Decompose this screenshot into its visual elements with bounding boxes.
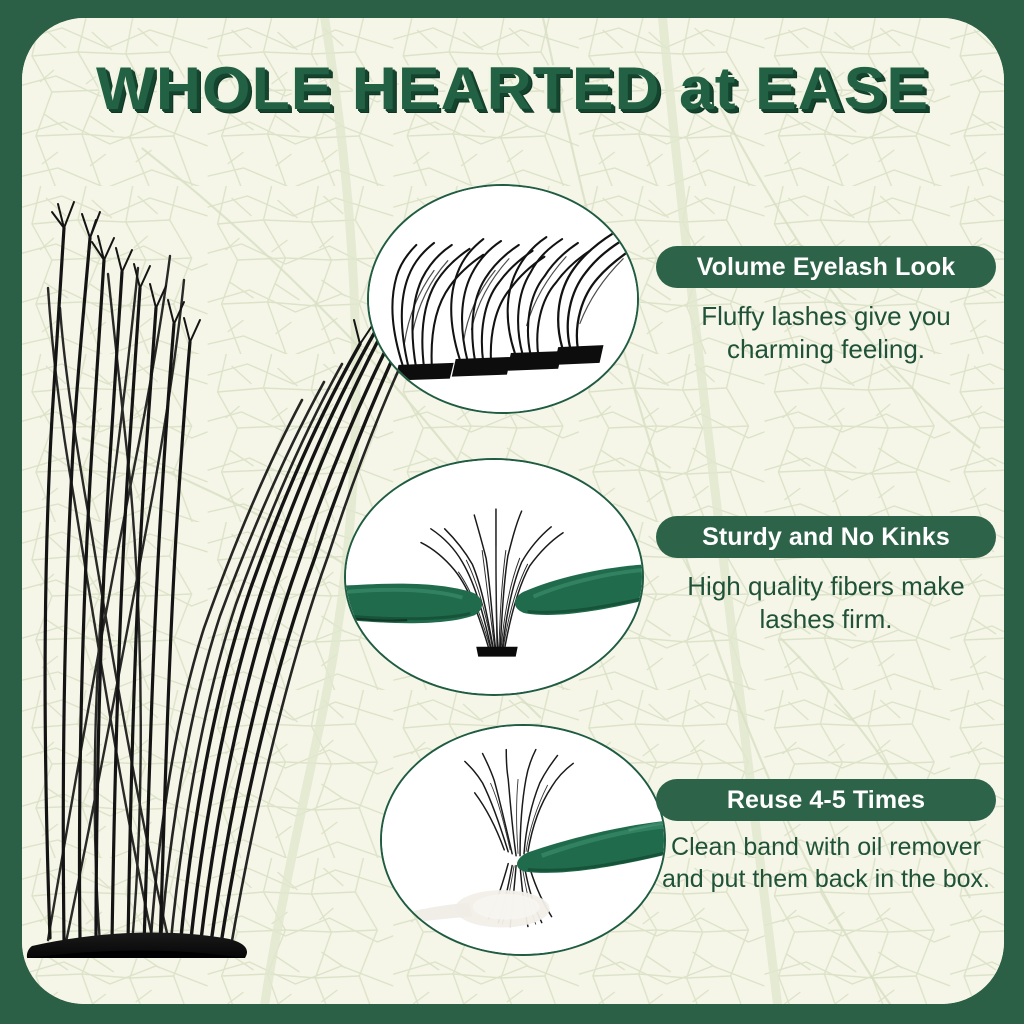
feature-description-2: High quality fibers make lashes firm. [656,570,996,636]
feature-image-volume-eyelash-look [367,184,639,414]
feature-badge-reuse-4-5-times[interactable]: Reuse 4-5 Times [656,779,996,821]
poster-inner-panel: WHOLE HEARTED at EASE [22,18,1004,1004]
page-title: WHOLE HEARTED at EASE [96,54,929,123]
feature-block-2: Sturdy and No Kinks High quality fibers … [656,516,996,636]
feature-block-1: Volume Eyelash Look Fluffy lashes give y… [656,246,996,366]
feature-image-sturdy-no-kinks [344,458,644,696]
feature-image-reuse-4-5-times [380,724,666,956]
product-infographic-poster: WHOLE HEARTED at EASE [0,0,1024,1024]
feature-description-3: Clean band with oil remover and put them… [656,831,996,895]
feature-badge-volume-eyelash-look[interactable]: Volume Eyelash Look [656,246,996,288]
feature-block-3: Reuse 4-5 Times Clean band with oil remo… [656,779,996,895]
poster-title-container: WHOLE HEARTED at EASE [22,54,1004,123]
feature-badge-sturdy-and-no-kinks[interactable]: Sturdy and No Kinks [656,516,996,558]
feature-description-1: Fluffy lashes give you charming feeling. [656,300,996,366]
